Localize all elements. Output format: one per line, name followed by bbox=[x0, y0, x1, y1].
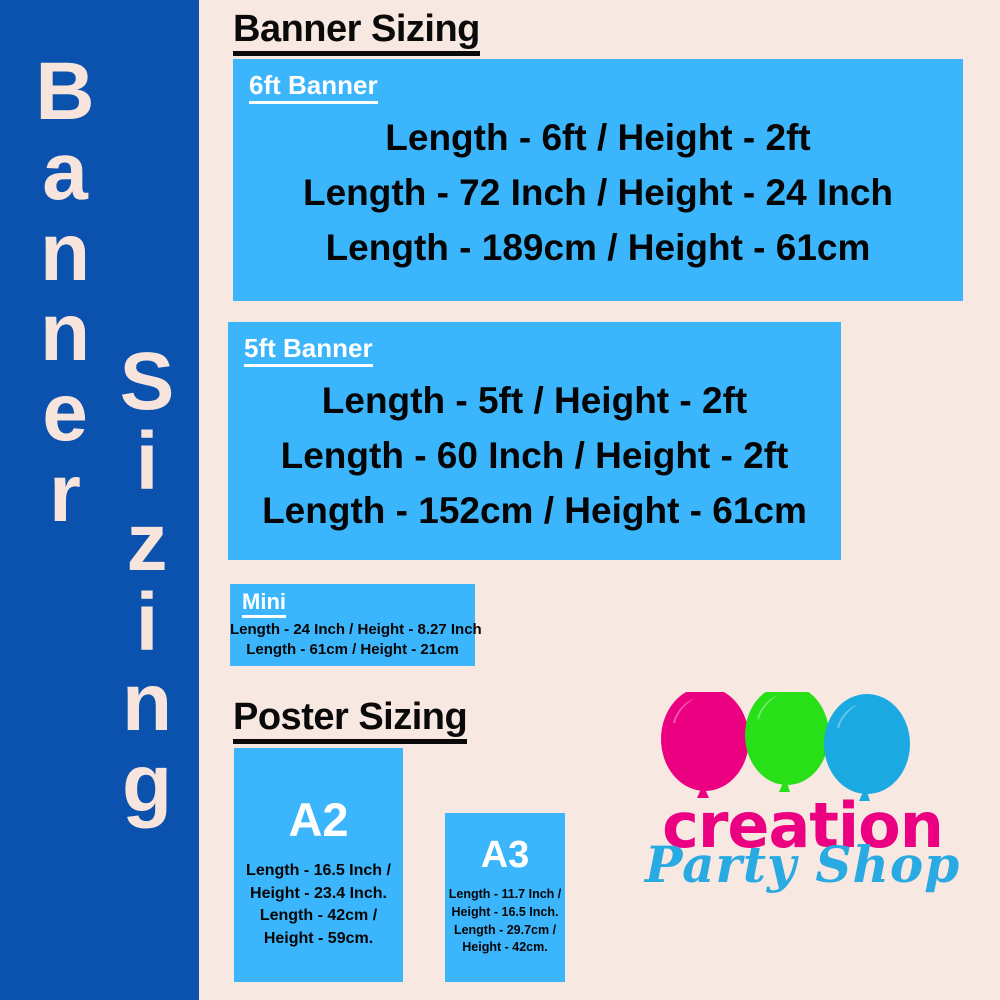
poster-box-a2-line-1: Length - 16.5 Inch / bbox=[234, 860, 403, 883]
banner-box-6ft-line-3: Length - 189cm / Height - 61cm bbox=[233, 221, 963, 276]
blue-balloon bbox=[824, 694, 910, 801]
banner-box-mini-line-2: Length - 61cm / Height - 21cm bbox=[230, 640, 475, 660]
sidebar-vertical-word-sizing: Sizing bbox=[104, 342, 190, 824]
banner-box-6ft-label: 6ft Banner bbox=[249, 70, 378, 104]
poster-box-a3-name: A3 bbox=[445, 836, 565, 874]
poster-box-a2-lines: Length - 16.5 Inch / Height - 23.4 Inch.… bbox=[234, 860, 403, 951]
banner-box-6ft: 6ft Banner Length - 6ft / Height - 2ft L… bbox=[233, 59, 963, 301]
banner-box-mini-label: Mini bbox=[242, 589, 286, 618]
poster-box-a2: A2 Length - 16.5 Inch / Height - 23.4 In… bbox=[234, 748, 403, 982]
banner-box-6ft-label-text: 6ft Banner bbox=[249, 70, 378, 104]
banner-box-6ft-lines: Length - 6ft / Height - 2ft Length - 72 … bbox=[233, 111, 963, 275]
banner-box-5ft-label-text: 5ft Banner bbox=[244, 333, 373, 367]
green-balloon bbox=[745, 692, 829, 792]
banner-box-5ft: 5ft Banner Length - 5ft / Height - 2ft L… bbox=[228, 322, 841, 560]
banner-box-6ft-line-1: Length - 6ft / Height - 2ft bbox=[233, 111, 963, 166]
poster-sizing-heading: Poster Sizing bbox=[233, 696, 467, 739]
banner-box-5ft-lines: Length - 5ft / Height - 2ft Length - 60 … bbox=[228, 374, 841, 538]
banner-box-mini-lines: Length - 24 Inch / Height - 8.27 Inch Le… bbox=[230, 620, 475, 661]
banner-box-5ft-line-2: Length - 60 Inch / Height - 2ft bbox=[228, 429, 841, 484]
logo-wordmark-party-shop: Party Shop bbox=[615, 840, 990, 890]
poster-box-a3-lines: Length - 11.7 Inch / Height - 16.5 Inch.… bbox=[445, 886, 565, 957]
sidebar-banner-sizing: Banner Sizing bbox=[0, 0, 199, 1000]
banner-box-6ft-line-2: Length - 72 Inch / Height - 24 Inch bbox=[233, 166, 963, 221]
poster-box-a3: A3 Length - 11.7 Inch / Height - 16.5 In… bbox=[445, 813, 565, 982]
pink-balloon bbox=[661, 692, 749, 798]
poster-box-a3-line-3: Length - 29.7cm / bbox=[445, 922, 565, 940]
poster-box-a2-line-3: Length - 42cm / bbox=[234, 905, 403, 928]
poster-box-a2-name: A2 bbox=[234, 796, 403, 843]
poster-box-a2-line-4: Height - 59cm. bbox=[234, 928, 403, 951]
poster-box-a2-line-2: Height - 23.4 Inch. bbox=[234, 883, 403, 906]
banner-sizing-heading-text: Banner Sizing bbox=[233, 8, 480, 56]
balloons-graphic bbox=[615, 692, 990, 802]
banner-box-mini-label-text: Mini bbox=[242, 589, 286, 618]
banner-box-5ft-label: 5ft Banner bbox=[244, 333, 373, 367]
banner-box-mini-line-1: Length - 24 Inch / Height - 8.27 Inch bbox=[230, 620, 475, 640]
infographic-canvas: Banner Sizing Banner Sizing 6ft Banner L… bbox=[0, 0, 1000, 1000]
sidebar-vertical-word-banner: Banner bbox=[22, 52, 108, 534]
banner-box-5ft-line-3: Length - 152cm / Height - 61cm bbox=[228, 484, 841, 539]
banner-sizing-heading: Banner Sizing bbox=[233, 8, 480, 51]
banner-box-5ft-line-1: Length - 5ft / Height - 2ft bbox=[228, 374, 841, 429]
poster-sizing-heading-text: Poster Sizing bbox=[233, 696, 467, 744]
poster-box-a3-line-4: Height - 42cm. bbox=[445, 939, 565, 957]
banner-box-mini: Mini Length - 24 Inch / Height - 8.27 In… bbox=[230, 584, 475, 666]
poster-box-a3-line-2: Height - 16.5 Inch. bbox=[445, 904, 565, 922]
poster-box-a3-line-1: Length - 11.7 Inch / bbox=[445, 886, 565, 904]
creation-party-shop-logo: creation Party Shop bbox=[615, 692, 990, 927]
